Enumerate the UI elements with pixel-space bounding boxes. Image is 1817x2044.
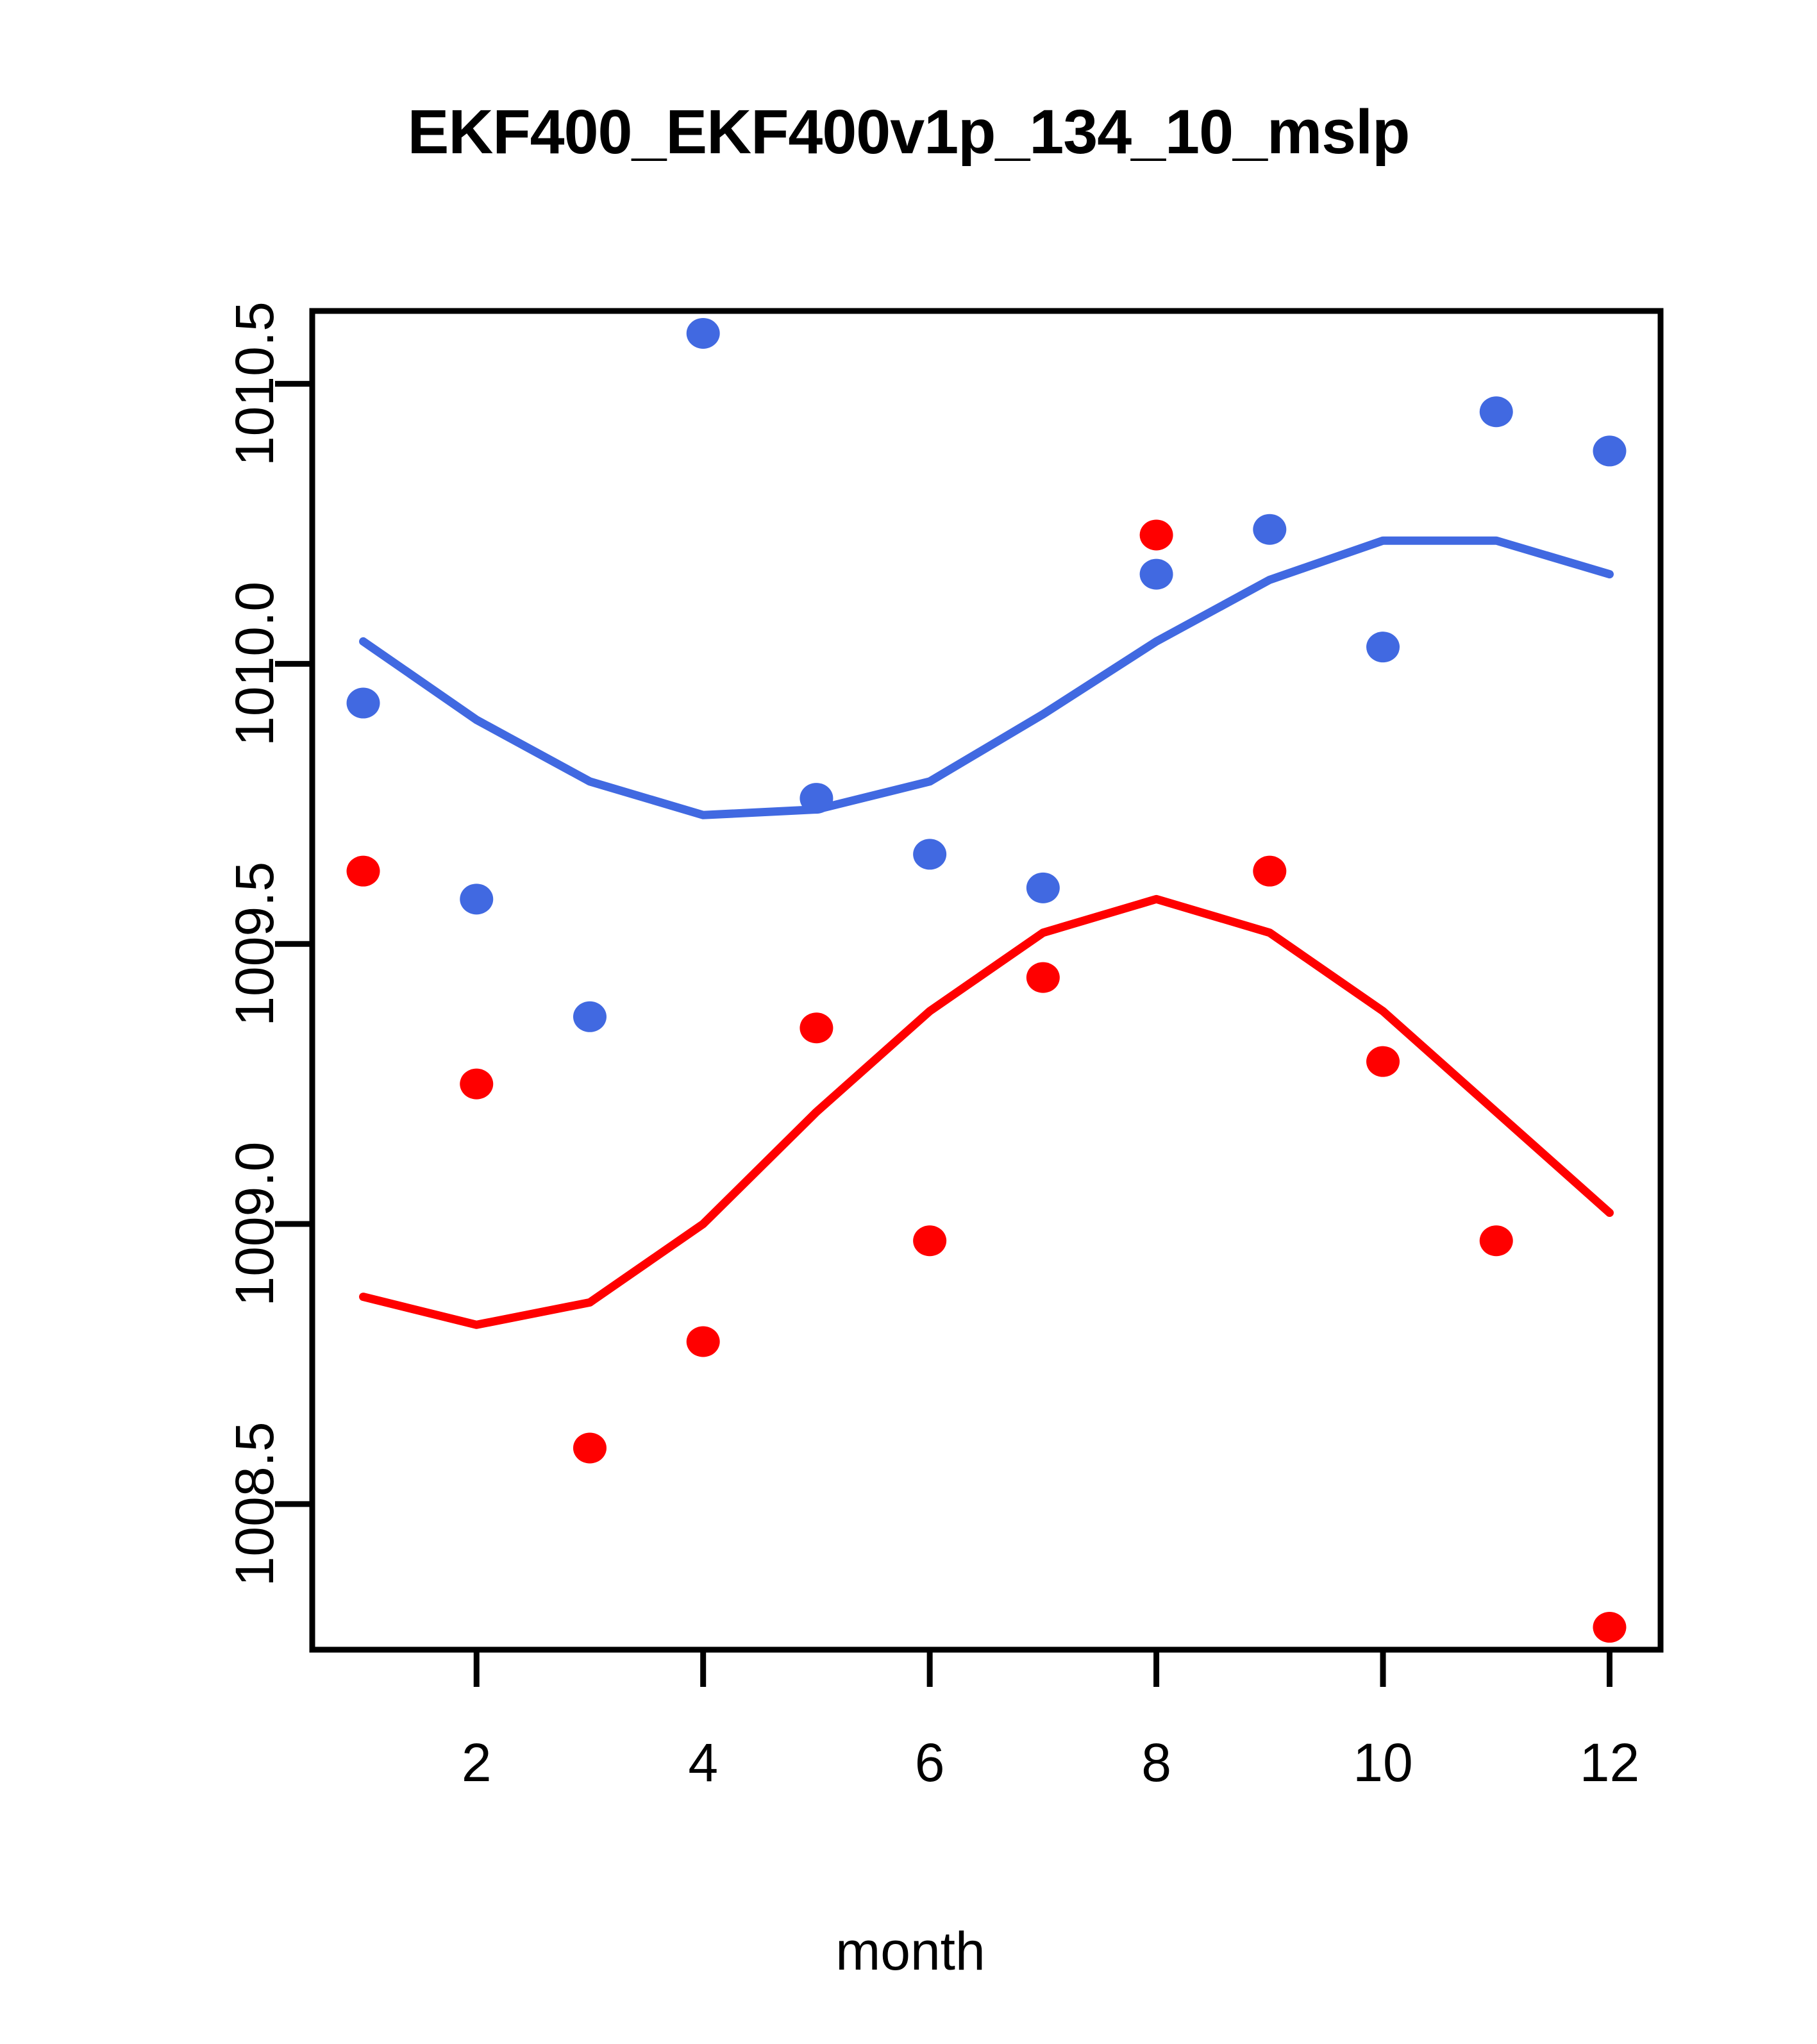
- x-tick-label: 12: [1580, 1732, 1639, 1793]
- data-point-red-points: [1026, 962, 1060, 993]
- data-point-red-points: [460, 1069, 493, 1100]
- y-tick-label: 1008.5: [224, 1421, 285, 1586]
- data-point-blue-points: [460, 884, 493, 914]
- x-tick-label: 4: [688, 1732, 718, 1793]
- data-point-blue-points: [573, 1001, 607, 1032]
- data-point-blue-points: [1366, 632, 1400, 662]
- plot-border: [312, 311, 1661, 1650]
- data-point-red-points: [1480, 1225, 1513, 1256]
- data-point-blue-points: [1593, 435, 1626, 466]
- y-tick-label: 1009.5: [224, 862, 285, 1026]
- x-axis-title: month: [718, 1920, 1103, 1982]
- scatter-plot-canvas: 1008.51009.01009.51010.01010.5 24681012: [0, 0, 1817, 2044]
- plot-figure: EKF400_EKF400v1p_134_10_mslp 1008.51009.…: [0, 0, 1817, 2044]
- series-line-blue-smooth: [364, 540, 1610, 815]
- plot-frame: [312, 311, 1661, 1650]
- data-point-red-points: [913, 1225, 946, 1256]
- data-point-blue-points: [1140, 559, 1173, 590]
- data-point-red-points: [800, 1012, 833, 1043]
- x-axis-ticks: 24681012: [462, 1650, 1639, 1793]
- y-tick-label: 1010.0: [224, 582, 285, 746]
- data-point-blue-points: [1253, 514, 1286, 545]
- data-point-red-points: [1140, 519, 1173, 550]
- y-tick-label: 1010.5: [224, 301, 285, 466]
- data-point-blue-points: [347, 688, 380, 719]
- data-point-blue-points: [1480, 396, 1513, 427]
- data-point-red-points: [573, 1432, 607, 1463]
- data-point-blue-points: [913, 839, 946, 869]
- y-tick-label: 1009.0: [224, 1142, 285, 1307]
- data-point-red-points: [1593, 1612, 1626, 1643]
- data-point-red-points: [347, 856, 380, 887]
- x-tick-label: 10: [1353, 1732, 1412, 1793]
- data-point-red-points: [1253, 856, 1286, 887]
- data-point-blue-points: [800, 783, 833, 814]
- x-tick-label: 8: [1141, 1732, 1171, 1793]
- data-point-red-points: [687, 1326, 720, 1357]
- data-point-blue-points: [1026, 873, 1060, 903]
- series-line-red-smooth: [364, 899, 1610, 1325]
- x-tick-label: 6: [915, 1732, 945, 1793]
- data-point-red-points: [1366, 1046, 1400, 1077]
- y-axis-ticks: 1008.51009.01009.51010.01010.5: [224, 301, 312, 1586]
- data-point-blue-points: [687, 318, 720, 349]
- series-layer: [347, 318, 1627, 1643]
- x-tick-label: 2: [462, 1732, 492, 1793]
